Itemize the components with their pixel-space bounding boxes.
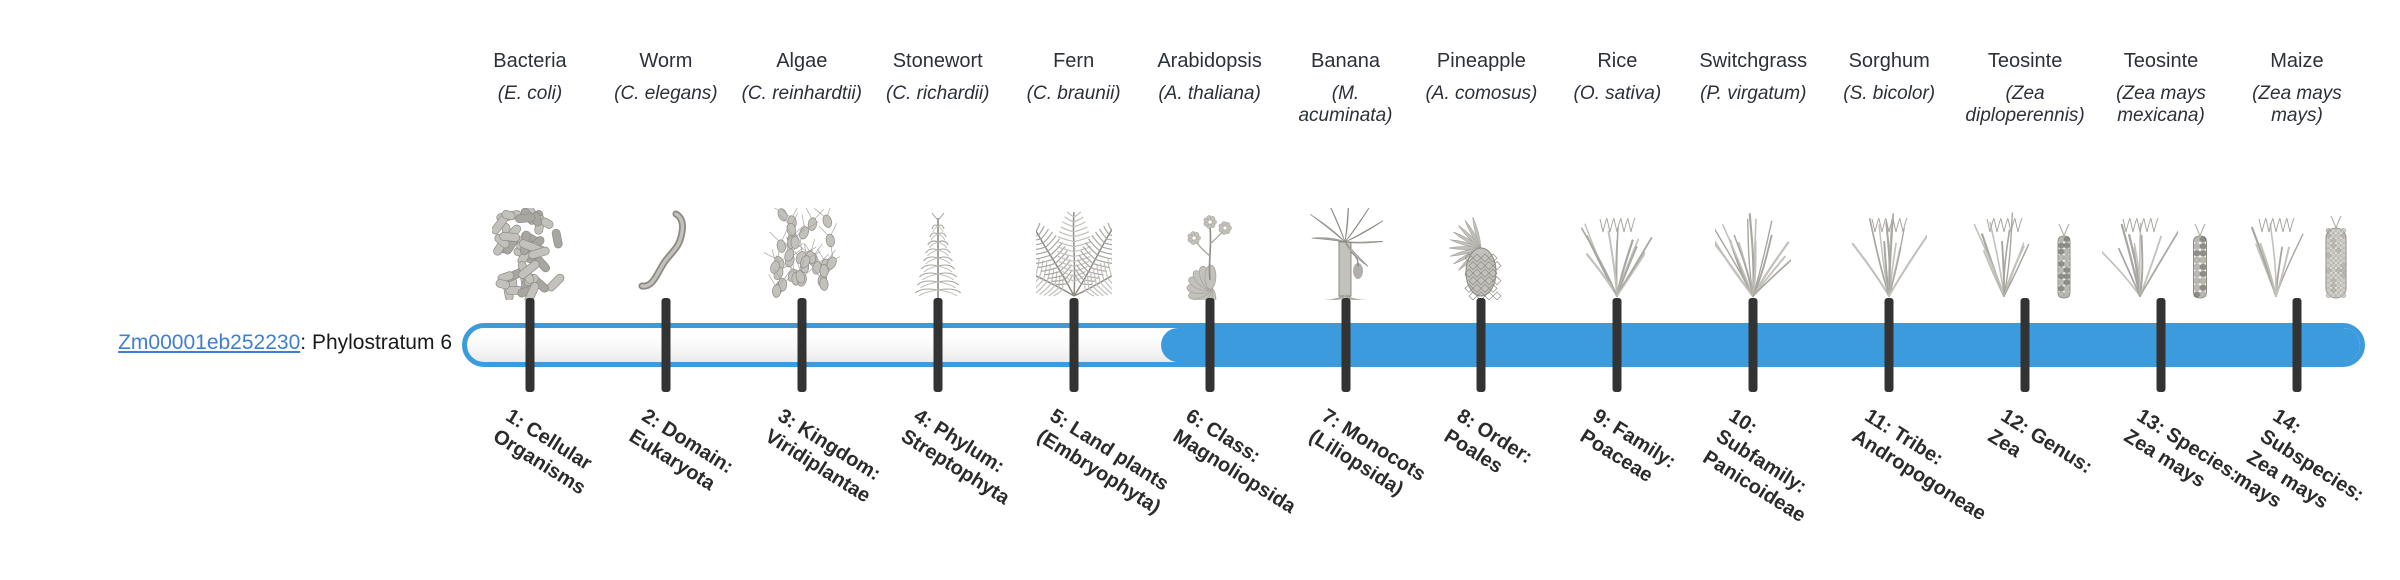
timeline-tick[interactable] xyxy=(1205,298,1214,392)
rank-label: 8: Order: Poales8: Order: Poales xyxy=(1440,404,1581,517)
timeline-tick[interactable] xyxy=(2293,298,2302,392)
rank-label: 10: Subfamily: Panicoideae10: Subfamily:… xyxy=(1699,404,1853,538)
timeline-tick[interactable] xyxy=(1477,298,1486,392)
rank-label: 9: Family: Poaceae9: Family: Poaceae xyxy=(1576,404,1717,517)
rank-label: 1: Cellular Organisms1: Cellular Organis… xyxy=(488,404,629,517)
rank-label-text: 4: Phylum: Streptophyta xyxy=(897,405,1013,510)
phylostratum-timeline-figure: Zm00001eb252230: Phylostratum 6 Bacteria… xyxy=(0,0,2400,580)
rank-label-text: 1: Cellular Organisms xyxy=(489,405,596,500)
phylostratum-value: Phylostratum 6 xyxy=(312,331,452,354)
rank-label: 14: Subspecies: Zea mays mays14: Subspec… xyxy=(2229,404,2396,559)
timeline-tick[interactable] xyxy=(525,298,534,392)
timeline-tick[interactable] xyxy=(2021,298,2030,392)
timeline-tick[interactable] xyxy=(1341,298,1350,392)
timeline-tick[interactable] xyxy=(661,298,670,392)
timeline-tick[interactable] xyxy=(1749,298,1758,392)
rank-label-text: 8: Order: Poales xyxy=(1440,405,1536,479)
gene-id-link[interactable]: Zm00001eb252230 xyxy=(118,331,300,354)
rank-label: 13: Species: Zea mays13: Species: Zea ma… xyxy=(2119,404,2260,517)
phylostratum-timeline: 1: Cellular Organisms1: Cellular Organis… xyxy=(462,0,2365,580)
gene-label-separator: : xyxy=(300,331,312,354)
rank-label: 7: Monocots (Liliopsida)7: Monocots (Lil… xyxy=(1304,404,1445,517)
timeline-tick[interactable] xyxy=(797,298,806,392)
rank-label: 11: Tribe: Andropogoneae11: Tribe: Andro… xyxy=(1847,404,1988,517)
phylostratum-track[interactable] xyxy=(462,323,2365,367)
rank-label: 4: Phylum: Streptophyta4: Phylum: Strept… xyxy=(896,404,1037,517)
rank-label: 3: Kingdom: Viridiplantae3: Kingdom: Vir… xyxy=(760,404,901,517)
rank-label: 5: Land plants (Embryophyta)5: Land plan… xyxy=(1032,404,1173,517)
timeline-tick[interactable] xyxy=(2157,298,2166,392)
rank-label: 6: Class: Magnoliopsida6: Class: Magnoli… xyxy=(1168,404,1309,517)
timeline-tick[interactable] xyxy=(1613,298,1622,392)
gene-phylostratum-label: Zm00001eb252230: Phylostratum 6 xyxy=(0,331,452,355)
timeline-tick[interactable] xyxy=(933,298,942,392)
timeline-tick[interactable] xyxy=(1069,298,1078,392)
timeline-tick[interactable] xyxy=(1885,298,1894,392)
rank-label: 12: Genus: Zea12: Genus: Zea xyxy=(1983,404,2124,517)
rank-label-text: 13: Species: Zea mays xyxy=(2120,405,2244,493)
rank-label: 2: Domain: Eukaryota2: Domain: Eukaryota xyxy=(624,404,765,517)
